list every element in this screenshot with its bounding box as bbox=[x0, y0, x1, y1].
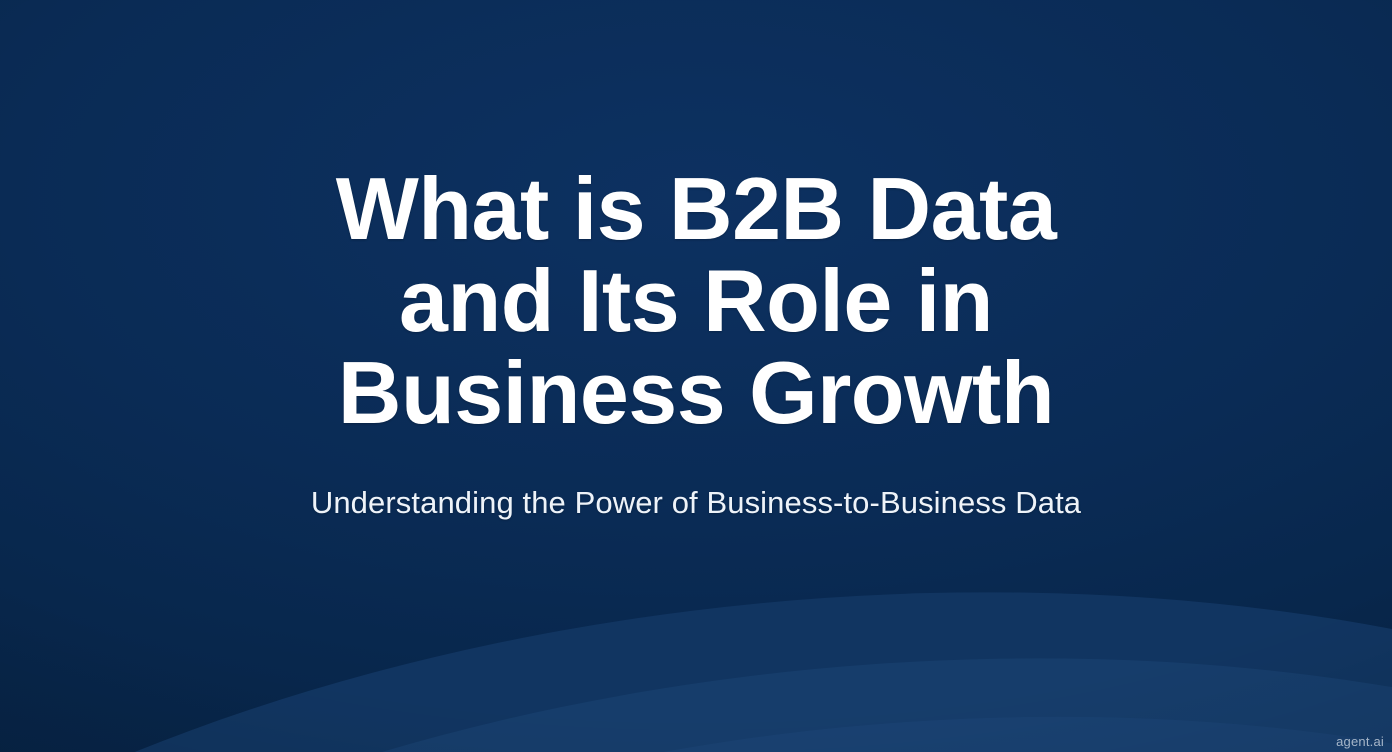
slide-title-line-3: Business Growth bbox=[338, 343, 1054, 442]
slide-content: What is B2B Data and Its Role in Busines… bbox=[0, 0, 1392, 752]
watermark-label: agent.ai bbox=[1336, 734, 1384, 749]
slide-title-line-1: What is B2B Data bbox=[336, 159, 1057, 258]
title-slide: What is B2B Data and Its Role in Busines… bbox=[0, 0, 1392, 752]
slide-subtitle: Understanding the Power of Business-to-B… bbox=[271, 483, 1121, 523]
slide-title-line-2: and Its Role in bbox=[399, 251, 993, 350]
slide-title: What is B2B Data and Its Role in Busines… bbox=[276, 163, 1117, 439]
